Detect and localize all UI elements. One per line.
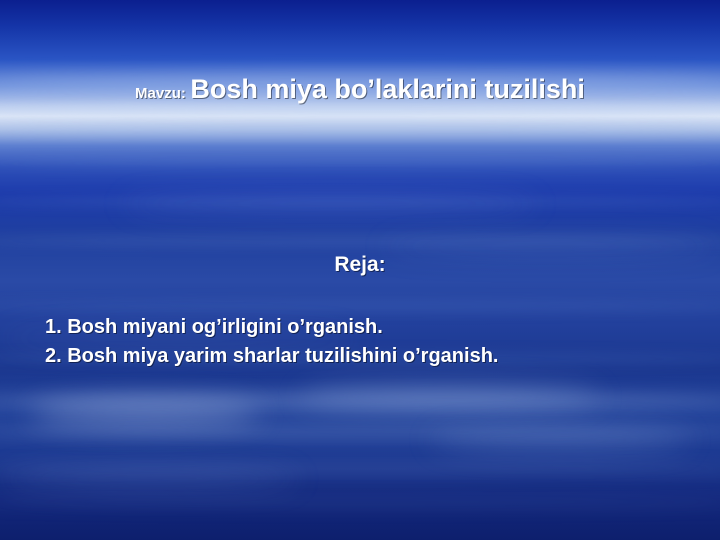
slide-content: Mavzu: Bosh miya bo’laklarini tuzilishi … [0,0,720,540]
title-prefix-label: Mavzu: [135,85,186,102]
presentation-slide: Mavzu: Bosh miya bo’laklarini tuzilishi … [0,0,720,540]
plan-list: 1. Bosh miyani og’irligini o’rganish. 2.… [45,313,705,371]
list-item: 2. Bosh miya yarim sharlar tuzilishini o… [45,342,705,371]
plan-heading: Reja: [0,253,720,277]
slide-title: Mavzu: Bosh miya bo’laklarini tuzilishi [0,74,720,105]
title-main-text: Bosh miya bo’laklarini tuzilishi [190,74,585,104]
list-item: 1. Bosh miyani og’irligini o’rganish. [45,313,705,342]
